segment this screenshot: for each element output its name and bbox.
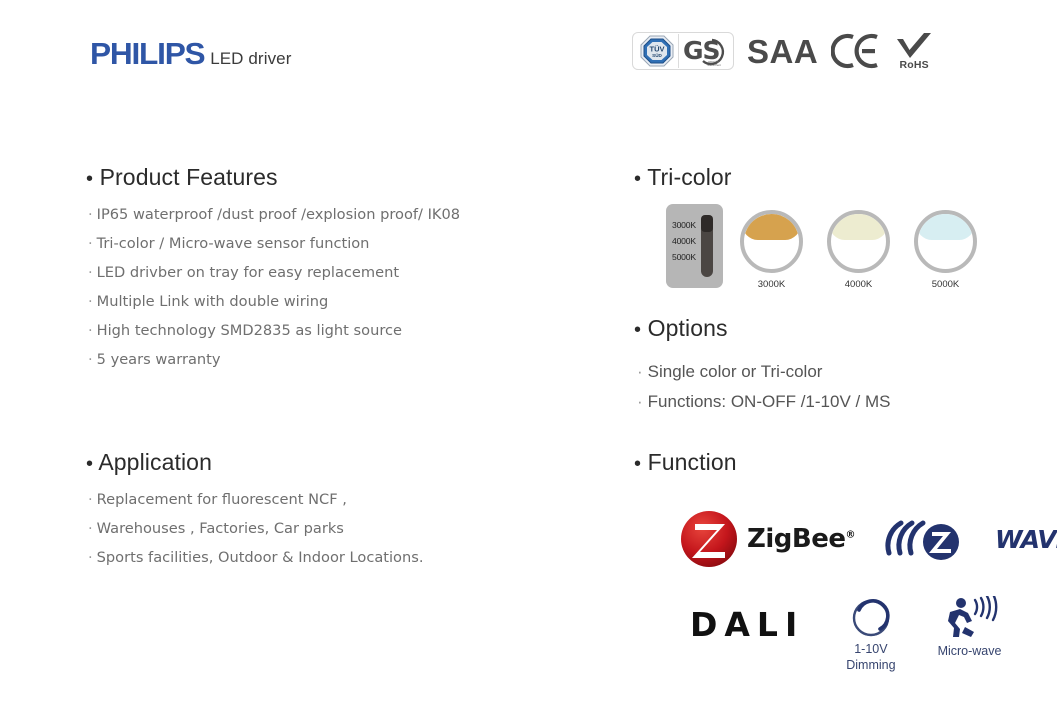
list-item-label: Replacement for fluorescent NCF , [97,491,347,508]
swatch-color-fill [742,212,801,240]
list-item: ·High technology SMD2835 as light source [88,322,460,339]
application-heading-text: Application [98,449,212,475]
swatch-color-fill [829,212,888,240]
options-heading-text: Options [648,315,728,341]
list-item-label: High technology SMD2835 as light source [97,322,402,339]
item-marker: · [637,392,648,411]
cct-option-labels: 3000K 4000K 5000K [672,220,696,262]
brand-logo: PHILIPS LED driver [90,38,292,69]
gs-icon: GS geprüfte Sicherheit [681,34,729,68]
list-item: ·Multiple Link with double wiring [88,293,460,310]
dimming-block: 1-10V Dimming [846,596,895,673]
luminaire-ring-icon [827,210,890,273]
product-features-heading: • Product Features [86,164,278,191]
function-logos-row-1: ZigBee® WAVE® [678,508,1057,570]
heading-bullet: • [634,168,641,190]
item-marker: · [88,491,97,508]
cct-swatch-5000k: 5000K [914,210,977,290]
item-marker: · [88,206,97,223]
product-features-list: ·IP65 waterproof /dust proof /explosion … [88,206,460,368]
heading-bullet: • [86,168,93,190]
heading-bullet: • [634,453,641,475]
cct-swatch-4000k: 4000K [827,210,890,290]
list-item-label: Single color or Tri-color [648,362,823,381]
svg-text:SÜD: SÜD [652,52,662,58]
microwave-caption: Micro-wave [938,644,1002,660]
luminaire-ring-icon [914,210,977,273]
svg-text:Sicherheit: Sicherheit [707,63,721,67]
list-item-label: Multiple Link with double wiring [97,293,329,310]
heading-bullet: • [86,453,93,475]
item-marker: · [88,322,97,339]
list-item-label: Warehouses , Factories, Car parks [97,520,344,537]
options-heading: • Options [634,315,728,342]
swatch-label: 3000K [740,279,803,290]
microwave-block: Micro-wave [938,596,1002,660]
tricolor-heading: • Tri-color [634,164,732,191]
swatch-label: 4000K [827,279,890,290]
dimming-icon [849,596,893,640]
dimming-caption-line1: 1-10V [854,642,887,656]
item-marker: · [88,264,97,281]
brand-subtitle: LED driver [210,50,291,69]
list-item-label: IP65 waterproof /dust proof /explosion p… [97,206,460,223]
swatch-color-fill [916,212,975,240]
zigbee-wordmark: ZigBee® [747,524,855,554]
certification-marks: TÜV SÜD GS geprüfte Sicherheit SAA [632,26,934,76]
cct-option-5000k[interactable]: 5000K [672,252,696,262]
item-marker: · [88,549,97,566]
item-marker: · [88,520,97,537]
list-item-label: Sports facilities, Outdoor & Indoor Loca… [97,549,424,566]
options-list: ·Single color or Tri-color ·Functions: O… [637,362,890,412]
cct-slider-thumb[interactable] [701,215,713,232]
list-item: ·Tri-color / Micro-wave sensor function [88,235,460,252]
product-features-heading-text: Product Features [100,164,278,190]
list-item: ·LED drivber on tray for easy replacemen… [88,264,460,281]
list-item: ·Single color or Tri-color [637,362,890,382]
cct-option-3000k[interactable]: 3000K [672,220,696,230]
list-item-label: Tri-color / Micro-wave sensor function [97,235,370,252]
dimming-caption: 1-10V Dimming [846,642,895,673]
svg-text:TÜV: TÜV [650,45,665,54]
datasheet-page: PHILIPS LED driver TÜV SÜD GS geprüfte S… [0,0,1057,702]
saa-mark: SAA [747,35,818,68]
tuv-gs-group: TÜV SÜD GS geprüfte Sicherheit [632,32,734,70]
rohs-icon: RoHS [894,32,934,71]
list-item: ·Warehouses , Factories, Car parks [88,520,423,537]
cct-swatch-group: 3000K 4000K 5000K [740,210,977,290]
microwave-sensor-icon [941,596,999,642]
registered-mark: ® [845,529,855,540]
cct-option-4000k[interactable]: 4000K [672,236,696,246]
zwave-logo: WAVE® [879,511,1057,567]
zwave-icon [879,511,999,567]
item-marker: · [88,293,97,310]
swatch-label: 5000K [914,279,977,290]
list-item: ·5 years warranty [88,351,460,368]
list-item-label: LED drivber on tray for easy replacement [97,264,399,281]
rohs-label: RoHS [899,60,928,71]
zigbee-sphere-icon [678,508,740,570]
application-list: ·Replacement for fluorescent NCF , ·Ware… [88,491,423,566]
list-item: ·Functions: ON-OFF /1-10V / MS [637,392,890,412]
ce-icon [831,32,881,70]
zigbee-logo: ZigBee® [678,508,855,570]
philips-wordmark: PHILIPS [90,38,204,69]
item-marker: · [637,362,648,381]
zwave-wordmark: WAVE® [995,525,1057,554]
tuv-sud-icon: TÜV SÜD [636,34,679,68]
item-marker: · [88,351,97,368]
list-item: ·IP65 waterproof /dust proof /explosion … [88,206,460,223]
cct-selector-switch[interactable]: 3000K 4000K 5000K [666,204,723,288]
cct-swatch-3000k: 3000K [740,210,803,290]
function-heading: • Function [634,449,737,476]
list-item-label: Functions: ON-OFF /1-10V / MS [648,392,891,411]
cct-slider-track[interactable] [701,215,713,277]
heading-bullet: • [634,319,641,341]
list-item-label: 5 years warranty [97,351,221,368]
application-heading: • Application [86,449,212,476]
item-marker: · [88,235,97,252]
function-heading-text: Function [648,449,737,475]
list-item: ·Replacement for fluorescent NCF , [88,491,423,508]
function-logos-row-2: DALI 1-10V Dimming Micro-wave [690,596,1001,673]
list-item: ·Sports facilities, Outdoor & Indoor Loc… [88,549,423,566]
luminaire-ring-icon [740,210,803,273]
dali-wordmark: DALI [690,596,804,641]
tricolor-heading-text: Tri-color [647,164,731,190]
dimming-caption-line2: Dimming [846,658,895,672]
